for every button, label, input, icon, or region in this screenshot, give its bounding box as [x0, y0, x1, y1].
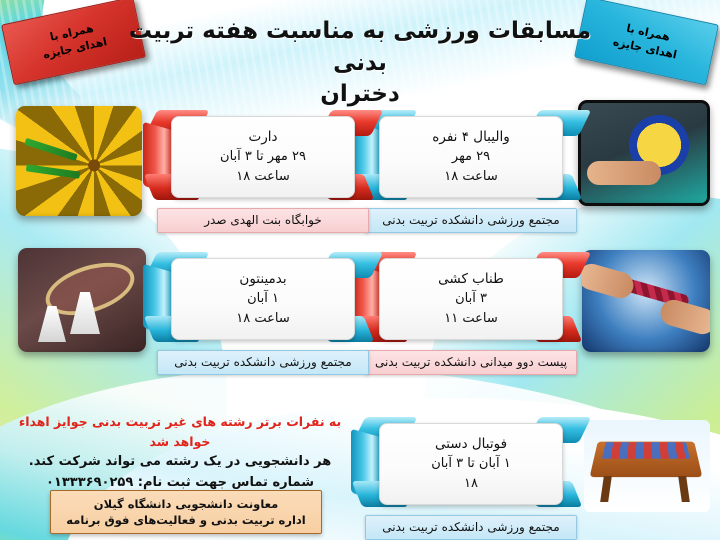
event-venue: مجتمع ورزشی دانشکده تربیت بدنی [365, 208, 577, 233]
event-time: ساعت ۱۸ [444, 168, 497, 186]
ribbon-frame: بدمینتون ۱ آبان ساعت ۱۸ [157, 250, 369, 348]
event-title: طناب کشی [438, 270, 504, 289]
event-date: ۲۹ مهر تا ۳ آبان [220, 148, 306, 166]
event-date: ۲۹ مهر [452, 148, 490, 166]
ribbon-frame: فوتبال دستی ۱ آبان تا ۳ آبان ۱۸ [365, 415, 577, 513]
event-title: بدمینتون [239, 270, 286, 289]
event-date: ۱ آبان تا ۳ آبان [431, 455, 511, 473]
dartboard-photo [16, 106, 142, 216]
event-title: دارت [249, 128, 278, 147]
prize-tag-right-label: همراه بااهدای جایزه [611, 19, 681, 64]
foosball-photo [584, 420, 710, 512]
dart-2 [26, 164, 80, 178]
ribbon-frame: دارت ۲۹ مهر تا ۳ آبان ساعت ۱۸ [157, 108, 369, 206]
event-details: طناب کشی ۳ آبان ساعت ۱۱ [379, 258, 563, 340]
organizer-line1: معاونت دانشجویی دانشگاه گیلان [94, 497, 278, 511]
event-title: والیبال ۴ نفره [432, 128, 509, 147]
event-card-foosball[interactable]: فوتبال دستی ۱ آبان تا ۳ آبان ۱۸ مجتمع ور… [365, 415, 577, 540]
hand-shape [587, 161, 661, 185]
table-leg-left [600, 476, 612, 502]
organizer-footer: معاونت دانشجویی دانشگاه گیلان اداره تربی… [50, 490, 322, 534]
organizer-line2: اداره تربیت بدنی و فعالیت‌های فوق برنامه [66, 513, 306, 527]
prize-tag-left-label: همراه بااهدای جایزه [38, 19, 108, 64]
event-venue: پیست دوو میدانی دانشکده تربیت بدنی [365, 350, 577, 375]
page-title-line2: دختران [120, 79, 600, 111]
event-details: بدمینتون ۱ آبان ساعت ۱۸ [171, 258, 355, 340]
photo-reflection [586, 203, 702, 206]
event-title: فوتبال دستی [435, 435, 507, 454]
event-details: والیبال ۴ نفره ۲۹ مهر ساعت ۱۸ [379, 116, 563, 198]
event-date: ۳ آبان [455, 290, 487, 308]
event-time: ساعت ۱۸ [236, 310, 289, 328]
event-time: ساعت ۱۱ [444, 310, 497, 328]
event-date: ۱ آبان [247, 290, 279, 308]
tug-of-war-photo [582, 250, 710, 352]
event-time: ۱۸ [464, 475, 478, 493]
event-venue: خوابگاه بنت الهدی صدر [157, 208, 369, 233]
ribbon-frame: طناب کشی ۳ آبان ساعت ۱۱ [365, 250, 577, 348]
page-title: مسابقات ورزشی به مناسبت هفته تربیت بدنی … [120, 16, 600, 111]
note-rule: هر دانشجویی در یک رشته می تواند شرکت کند… [8, 452, 352, 473]
event-venue: مجتمع ورزشی دانشکده تربیت بدنی [157, 350, 369, 375]
dart-1 [24, 138, 78, 161]
badminton-photo [18, 248, 146, 352]
event-details: فوتبال دستی ۱ آبان تا ۳ آبان ۱۸ [379, 423, 563, 505]
foosball-players [602, 442, 690, 459]
notes-block: به نفرات برتر رشته های غیر تربیت بدنی جو… [8, 412, 352, 494]
note-prize: به نفرات برتر رشته های غیر تربیت بدنی جو… [8, 412, 352, 452]
event-card-badminton[interactable]: بدمینتون ۱ آبان ساعت ۱۸ مجتمع ورزشی دانش… [157, 250, 369, 375]
hand-right [658, 297, 710, 337]
volleyball-photo [578, 100, 710, 206]
event-time: ساعت ۱۸ [236, 168, 289, 186]
event-card-darts[interactable]: دارت ۲۹ مهر تا ۳ آبان ساعت ۱۸ خوابگاه بن… [157, 108, 369, 233]
page-title-line1: مسابقات ورزشی به مناسبت هفته تربیت بدنی [120, 16, 600, 79]
table-leg-right [678, 476, 690, 502]
event-venue: مجتمع ورزشی دانشکده تربیت بدنی [365, 515, 577, 540]
event-details: دارت ۲۹ مهر تا ۳ آبان ساعت ۱۸ [171, 116, 355, 198]
event-card-volleyball[interactable]: والیبال ۴ نفره ۲۹ مهر ساعت ۱۸ مجتمع ورزش… [365, 108, 577, 233]
poster-canvas: همراه بااهدای جایزه همراه بااهدای جایزه … [0, 0, 720, 540]
event-card-tug-of-war[interactable]: طناب کشی ۳ آبان ساعت ۱۱ پیست دوو میدانی … [365, 250, 577, 375]
ribbon-frame: والیبال ۴ نفره ۲۹ مهر ساعت ۱۸ [365, 108, 577, 206]
